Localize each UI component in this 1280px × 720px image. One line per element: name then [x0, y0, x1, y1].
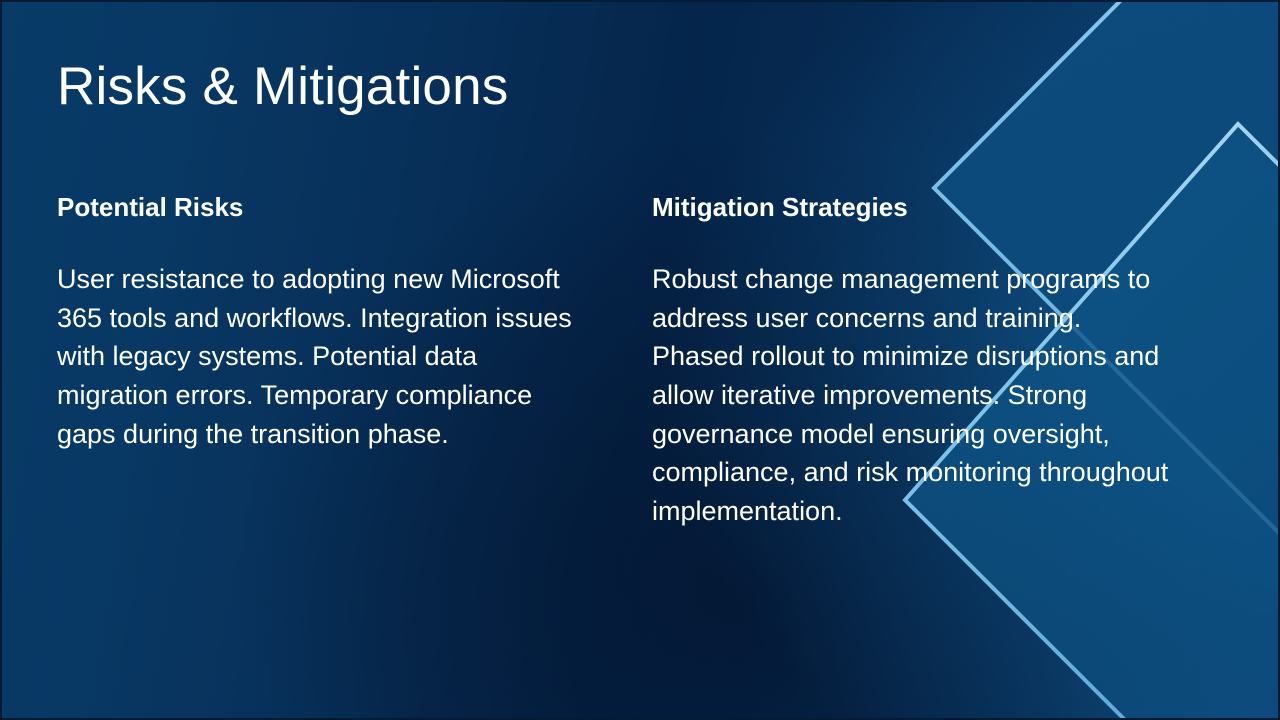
column-body-left: User resistance to adopting new Microsof… [57, 260, 572, 453]
presentation-slide: Risks & Mitigations Potential Risks User… [0, 0, 1280, 720]
column-heading-right: Mitigation Strategies [652, 192, 1172, 223]
slide-content: Risks & Mitigations Potential Risks User… [0, 0, 1280, 720]
column-mitigation-strategies: Mitigation Strategies Robust change mana… [652, 192, 1172, 530]
column-potential-risks: Potential Risks User resistance to adopt… [57, 192, 577, 453]
column-heading-left: Potential Risks [57, 192, 577, 223]
column-body-right: Robust change management programs to add… [652, 260, 1172, 530]
page-title: Risks & Mitigations [57, 57, 508, 118]
